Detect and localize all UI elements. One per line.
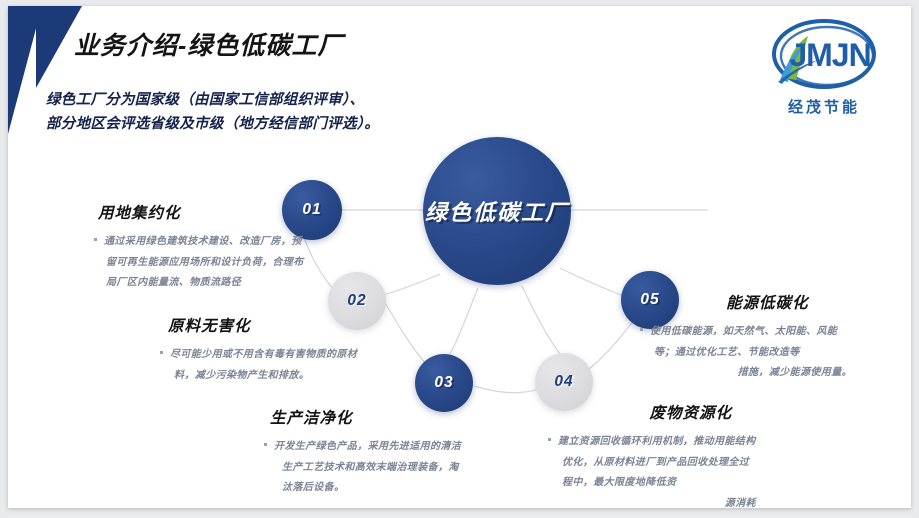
- block-04-body-last: 源消耗: [562, 494, 756, 509]
- block-05-body-last: 措施，减少能源使用量。: [654, 363, 852, 384]
- block-03-title: 生产洁净化: [270, 406, 469, 428]
- block-03-body-text: 开发生产绿色产品，采用先进适用的清洁生产工艺技术和高效末端治理装备，淘汰落后设备…: [274, 441, 461, 493]
- svg-text:JMJN: JMJN: [789, 37, 870, 73]
- node-02-number: 02: [347, 292, 366, 310]
- block-02-title: 原料无害化: [168, 314, 375, 336]
- node-04-number: 04: [554, 373, 573, 391]
- bullet-icon: [264, 443, 267, 446]
- node-03[interactable]: 03: [415, 354, 473, 412]
- block-low-carbon-energy: 能源低碳化 使用低碳能源，如天然气、太阳能、风能等；通过优化工艺、节能改造等措施…: [640, 291, 852, 384]
- center-node[interactable]: 绿色低碳工厂: [423, 137, 571, 285]
- block-04-body-text: 建立资源回收循环利用机制，推动用能结构优化，从原材料进厂到产品回收处理全过程中，…: [558, 436, 756, 488]
- logo-company-name: 经茂节能: [788, 96, 860, 117]
- bullet-icon: [94, 238, 97, 241]
- jmjn-logo-icon: JMJN: [764, 16, 884, 94]
- block-05-title: 能源低碳化: [726, 291, 852, 313]
- company-logo: JMJN 经茂节能: [759, 16, 889, 120]
- block-05-body: 使用低碳能源，如天然气、太阳能、风能等；通过优化工艺、节能改造等措施，减少能源使…: [640, 322, 852, 384]
- block-01-body: 通过采用绿色建筑技术建设、改造厂房，预留可再生能源应用场所和设计负荷，合理布局厂…: [94, 232, 309, 294]
- block-waste-recycling: 废物资源化 建立资源回收循环利用机制，推动用能结构优化，从原材料进厂到产品回收处…: [548, 401, 756, 508]
- bullet-icon: [548, 438, 551, 441]
- block-04-title: 废物资源化: [548, 401, 732, 423]
- bullet-icon: [160, 351, 163, 354]
- slide-canvas: 业务介绍-绿色低碳工厂 绿色工厂分为国家级（由国家工信部组织评审）、 部分地区会…: [8, 6, 911, 508]
- block-land-intensive: 用地集约化 通过采用绿色建筑技术建设、改造厂房，预留可再生能源应用场所和设计负荷…: [94, 201, 309, 294]
- page-title: 业务介绍-绿色低碳工厂: [74, 26, 343, 62]
- center-node-label: 绿色低碳工厂: [425, 195, 569, 227]
- block-clean-production: 生产洁净化 开发生产绿色产品，采用先进适用的清洁生产工艺技术和高效末端治理装备，…: [264, 406, 469, 499]
- node-03-number: 03: [434, 374, 453, 392]
- block-02-body-text: 尽可能少用或不用含有毒有害物质的原材料，减少污染物产生和排放。: [170, 349, 357, 381]
- block-02-body: 尽可能少用或不用含有毒有害物质的原材料，减少污染物产生和排放。: [160, 345, 375, 386]
- block-01-body-text: 通过采用绿色建筑技术建设、改造厂房，预留可再生能源应用场所和设计负荷，合理布局厂…: [104, 236, 304, 288]
- block-01-title: 用地集约化: [98, 201, 309, 223]
- block-raw-material-harmless: 原料无害化 尽可能少用或不用含有毒有害物质的原材料，减少污染物产生和排放。: [160, 314, 375, 386]
- block-04-body: 建立资源回收循环利用机制，推动用能结构优化，从原材料进厂到产品回收处理全过程中，…: [548, 432, 756, 508]
- block-05-body-text: 使用低碳能源，如天然气、太阳能、风能等；通过优化工艺、节能改造等: [650, 326, 837, 358]
- bullet-icon: [640, 328, 643, 331]
- intro-paragraph: 绿色工厂分为国家级（由国家工信部组织评审）、 部分地区会评选省级及市级（地方经信…: [46, 89, 379, 137]
- block-03-body: 开发生产绿色产品，采用先进适用的清洁生产工艺技术和高效末端治理装备，淘汰落后设备…: [264, 437, 469, 499]
